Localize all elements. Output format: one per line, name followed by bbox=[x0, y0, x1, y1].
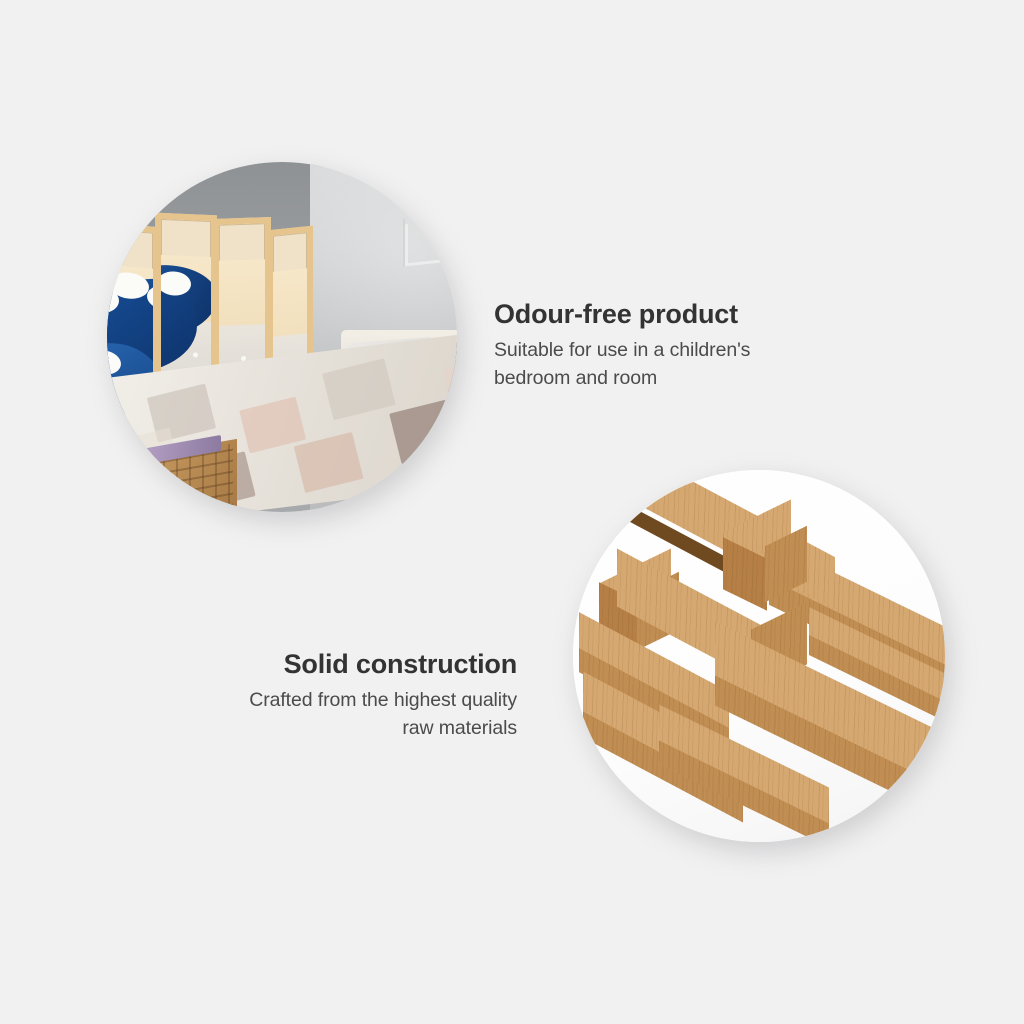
feature-subtitle-solid-construction: Crafted from the highest quality raw mat… bbox=[155, 687, 517, 742]
quilt-patch bbox=[322, 358, 396, 420]
wave-foam bbox=[107, 282, 119, 316]
wave-crest bbox=[155, 263, 217, 340]
feature-subtitle-line-2: bedroom and room bbox=[494, 367, 657, 389]
wave-foam bbox=[107, 349, 121, 376]
stacked-timber-beams-photo bbox=[573, 470, 945, 842]
lumber-photo-content bbox=[573, 470, 945, 842]
wave-foam bbox=[155, 259, 159, 287]
bedroom-photo-content bbox=[107, 162, 457, 512]
wave-foam bbox=[109, 271, 149, 300]
feature-subtitle-line-2: raw materials bbox=[402, 717, 517, 739]
wave-crest bbox=[155, 278, 197, 376]
infographic-page: Odour-free product Suitable for use in a… bbox=[0, 0, 1024, 1024]
feature-subtitle-odour-free: Suitable for use in a children's bedroom… bbox=[494, 337, 854, 392]
feature-odour-free-text: Odour-free product Suitable for use in a… bbox=[494, 298, 854, 393]
wave-crest bbox=[107, 274, 159, 355]
feature-subtitle-line-1: Suitable for use in a children's bbox=[494, 339, 750, 361]
feature-solid-construction-text: Solid construction Crafted from the high… bbox=[155, 648, 517, 743]
foam-droplet bbox=[193, 352, 198, 357]
quilt-patch bbox=[389, 399, 457, 464]
wave-foam bbox=[157, 271, 191, 296]
feature-title-solid-construction: Solid construction bbox=[155, 648, 517, 680]
bedroom-with-wave-room-divider-photo bbox=[107, 162, 457, 512]
feature-title-odour-free: Odour-free product bbox=[494, 298, 854, 330]
feature-subtitle-line-1: Crafted from the highest quality bbox=[249, 689, 517, 711]
wall-frame-outline-inner bbox=[405, 220, 451, 267]
quilt-patch bbox=[294, 432, 364, 493]
